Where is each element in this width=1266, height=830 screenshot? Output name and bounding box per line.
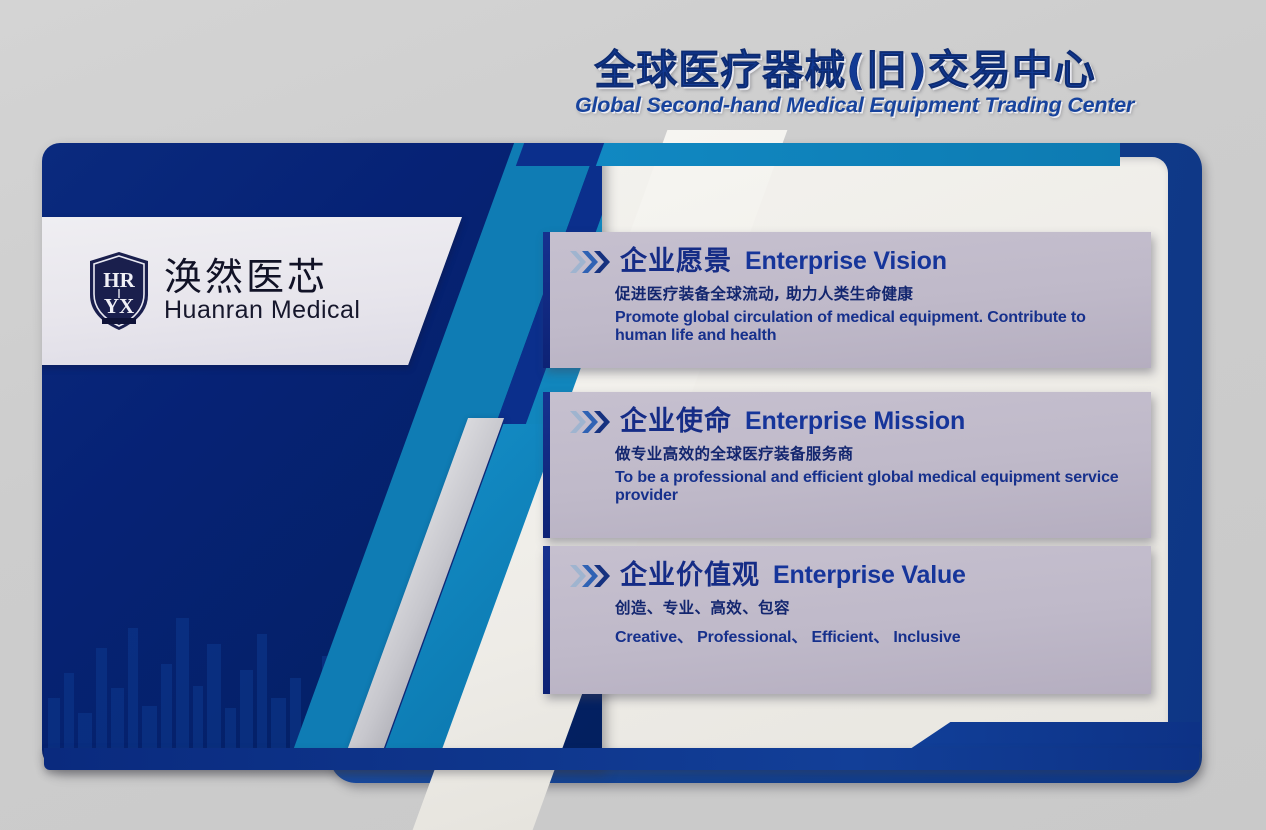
panel-title-cn: 企业愿景 [620, 248, 732, 275]
panel-subtitle-cn: 促进医疗装备全球流动, 助力人类生命健康 [615, 282, 1133, 304]
panel-subtitle-cn: 创造、专业、高效、包容 [615, 596, 1133, 618]
panel-title-cn: 企业价值观 [620, 562, 760, 589]
panel-title-en: Enterprise Mission [745, 409, 965, 434]
panel-title-cn: 企业使命 [620, 408, 732, 435]
panel-header: 企业使命 Enterprise Mission [569, 408, 1133, 435]
brand-text-group: 涣然医芯 Huanran Medical [164, 258, 361, 323]
panel-subtitle-en: To be a professional and efficient globa… [615, 469, 1133, 505]
shield-letters-bottom: YX [104, 294, 134, 318]
top-strip-navy [516, 143, 604, 166]
panel-header: 企业愿景 Enterprise Vision [569, 248, 1133, 275]
panel-subtitle-en: Creative、 Professional、 Efficient、 Inclu… [615, 623, 1133, 647]
panel-title-en: Enterprise Vision [745, 249, 947, 274]
page-title-en: Global Second-hand Medical Equipment Tra… [575, 93, 1115, 118]
brand-name-cn: 涣然医芯 [164, 258, 361, 296]
chevron-triple-icon [569, 409, 611, 435]
brand-logo-group: HR YX 涣然医芯 Huanran Medical [42, 217, 462, 365]
panel-header: 企业价值观 Enterprise Value [569, 562, 1133, 589]
panel-enterprise-value: 企业价值观 Enterprise Value 创造、专业、高效、包容 Creat… [543, 546, 1151, 694]
page-title-cn: 全球医疗器械(旧)交易中心 [575, 48, 1115, 92]
panel-title-en: Enterprise Value [773, 563, 966, 588]
brand-name-en: Huanran Medical [164, 297, 361, 323]
panel-subtitle-en: Promote global circulation of medical eq… [615, 309, 1133, 345]
panel-enterprise-vision: 企业愿景 Enterprise Vision 促进医疗装备全球流动, 助力人类生… [543, 232, 1151, 368]
shield-letters-top: HR [103, 268, 135, 292]
shield-icon: HR YX [88, 251, 150, 331]
signage-wall: HR YX 涣然医芯 Huanran Medical 全球医疗器械(旧)交易中心… [0, 0, 1266, 830]
panel-enterprise-mission: 企业使命 Enterprise Mission 做专业高效的全球医疗装备服务商 … [543, 392, 1151, 538]
chevron-triple-icon [569, 563, 611, 589]
header-title-group: 全球医疗器械(旧)交易中心 Global Second-hand Medical… [575, 48, 1115, 118]
bottom-navy-rail [44, 748, 1199, 770]
top-strip-cyan [560, 143, 1120, 166]
panel-subtitle-cn: 做专业高效的全球医疗装备服务商 [615, 442, 1133, 464]
chevron-triple-icon [569, 249, 611, 275]
